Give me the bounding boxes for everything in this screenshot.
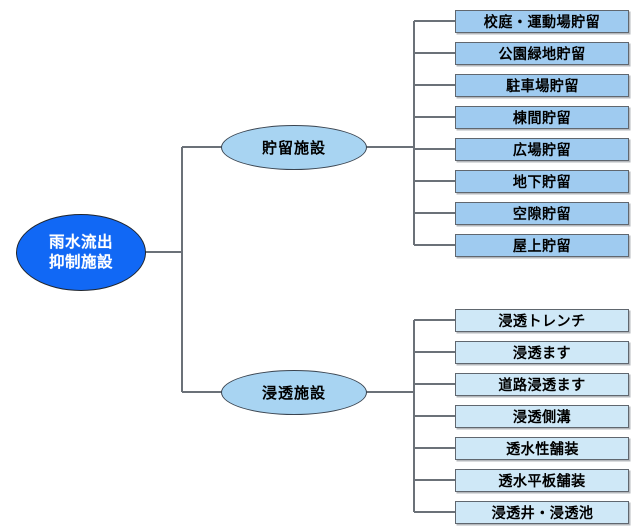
node-branch-infiltration-label: 浸透施設 — [262, 382, 326, 403]
leaf-storage-0-label: 校庭・運動場貯留 — [484, 11, 600, 32]
leaf-storage-1-label: 公園緑地貯留 — [498, 43, 585, 64]
leaf-infiltration-5-label: 透水平板舗装 — [498, 470, 585, 491]
leaf-storage-0[interactable]: 校庭・運動場貯留 — [455, 10, 629, 33]
node-branch-storage-label: 貯留施設 — [262, 137, 326, 158]
node-branch-infiltration[interactable]: 浸透施設 — [221, 370, 367, 415]
leaf-storage-5[interactable]: 地下貯留 — [455, 170, 629, 193]
leaf-infiltration-0-label: 浸透トレンチ — [498, 310, 585, 331]
leaf-storage-6[interactable]: 空隙貯留 — [455, 202, 629, 225]
leaf-storage-2[interactable]: 駐車場貯留 — [455, 74, 629, 97]
leaf-infiltration-3-label: 浸透側溝 — [513, 406, 571, 427]
leaf-storage-3[interactable]: 棟間貯留 — [455, 106, 629, 129]
leaf-storage-3-label: 棟間貯留 — [513, 107, 571, 128]
leaf-storage-5-label: 地下貯留 — [513, 171, 571, 192]
node-root[interactable]: 雨水流出 抑制施設 — [16, 214, 146, 291]
leaf-infiltration-6-label: 浸透井・浸透池 — [491, 502, 593, 523]
node-branch-storage[interactable]: 貯留施設 — [221, 125, 367, 170]
leaf-infiltration-1[interactable]: 浸透ます — [455, 341, 629, 364]
leaf-infiltration-2-label: 道路浸透ます — [498, 374, 585, 395]
leaf-infiltration-4[interactable]: 透水性舗装 — [455, 437, 629, 460]
leaf-storage-6-label: 空隙貯留 — [513, 203, 571, 224]
leaf-infiltration-6[interactable]: 浸透井・浸透池 — [455, 501, 629, 524]
leaf-storage-2-label: 駐車場貯留 — [506, 75, 579, 96]
leaf-storage-4-label: 広場貯留 — [513, 139, 571, 160]
leaf-infiltration-5[interactable]: 透水平板舗装 — [455, 469, 629, 492]
leaf-storage-7[interactable]: 屋上貯留 — [455, 234, 629, 257]
leaf-infiltration-2[interactable]: 道路浸透ます — [455, 373, 629, 396]
node-root-label: 雨水流出 抑制施設 — [49, 233, 113, 272]
leaf-storage-4[interactable]: 広場貯留 — [455, 138, 629, 161]
leaf-storage-1[interactable]: 公園緑地貯留 — [455, 42, 629, 65]
leaf-infiltration-0[interactable]: 浸透トレンチ — [455, 309, 629, 332]
leaf-infiltration-3[interactable]: 浸透側溝 — [455, 405, 629, 428]
leaf-infiltration-4-label: 透水性舗装 — [506, 438, 579, 459]
leaf-infiltration-1-label: 浸透ます — [513, 342, 571, 363]
diagram-canvas: 雨水流出 抑制施設 貯留施設 浸透施設 校庭・運動場貯留 公園緑地貯留 駐車場貯… — [0, 0, 640, 531]
leaf-storage-7-label: 屋上貯留 — [513, 235, 571, 256]
